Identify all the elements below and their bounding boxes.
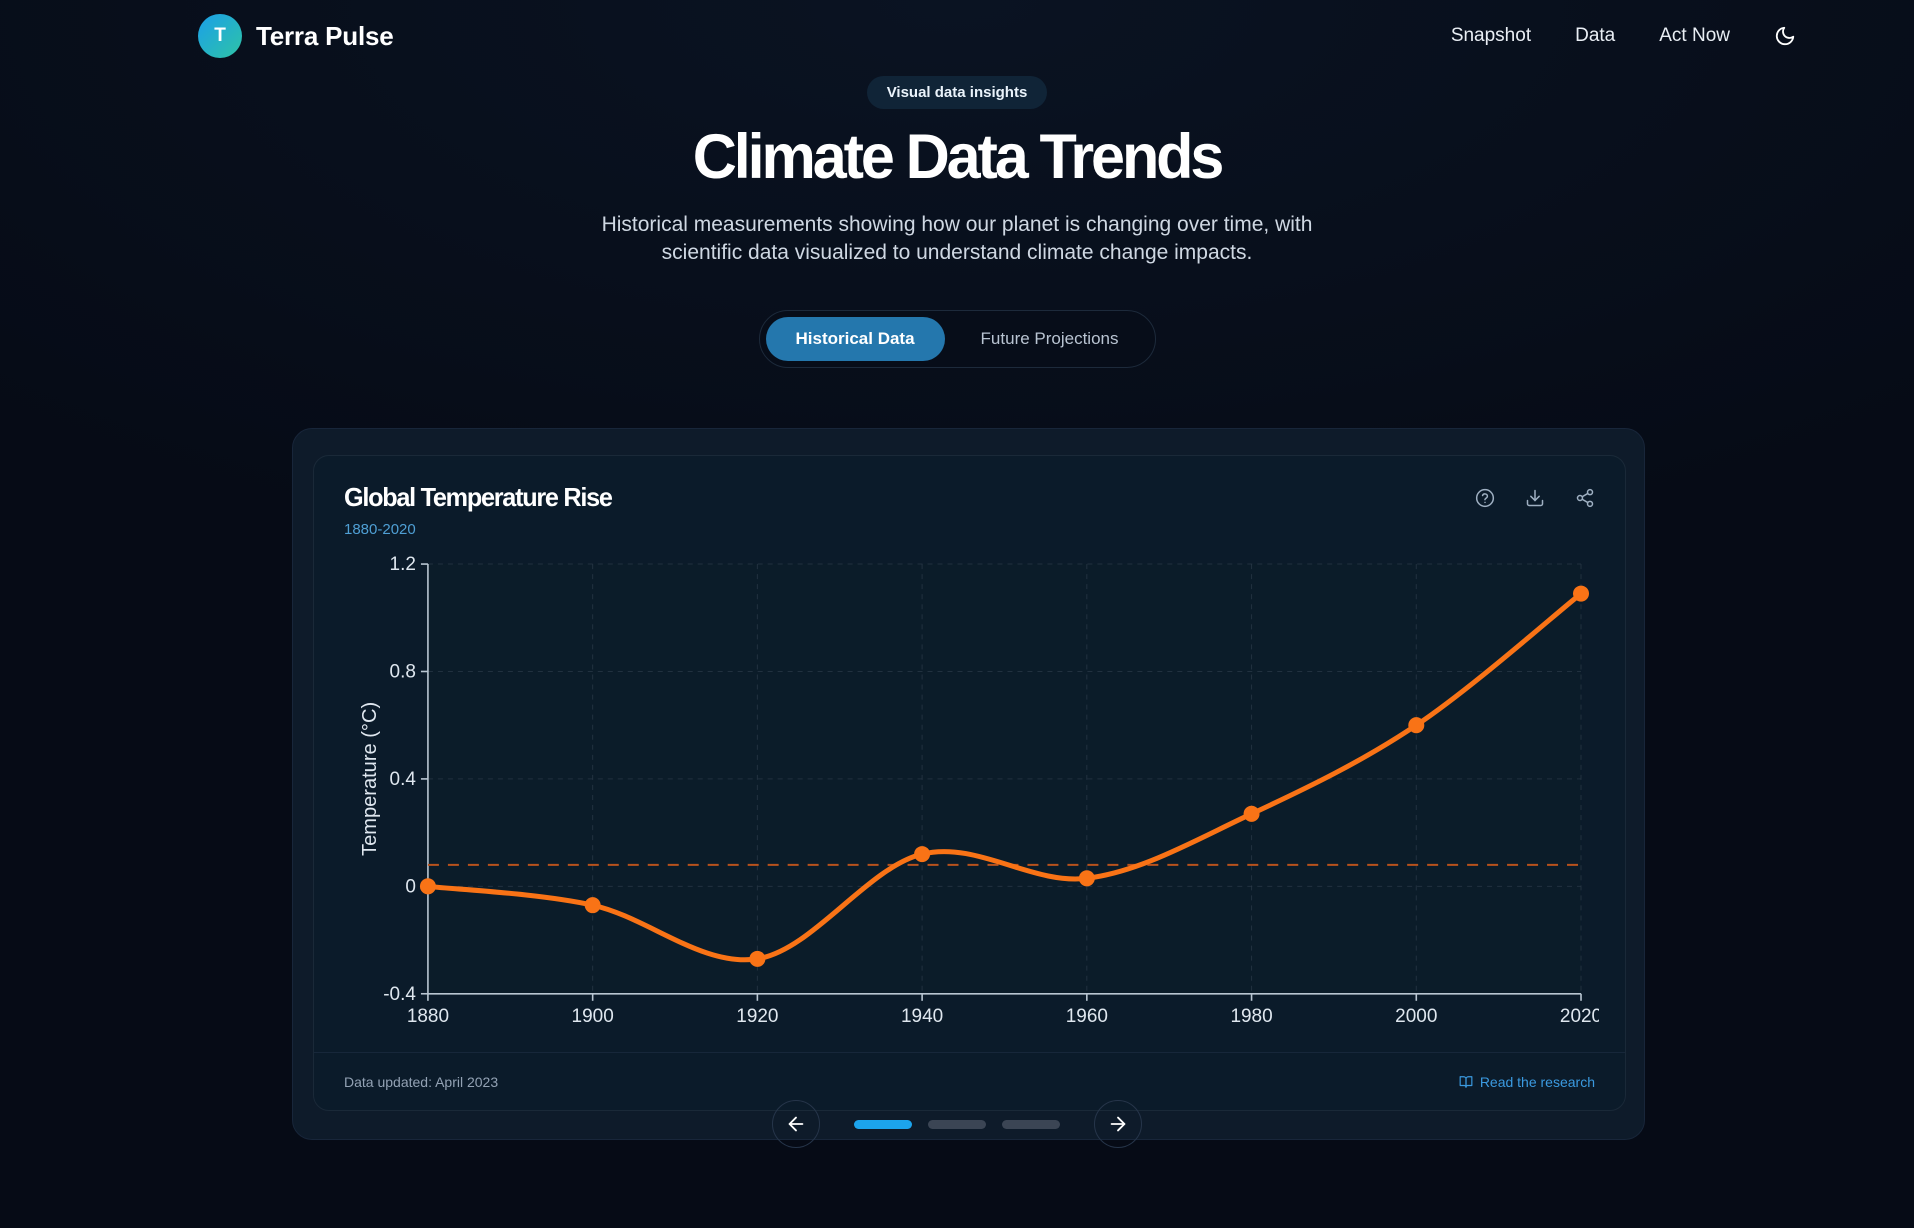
svg-text:2000: 2000 <box>1395 1006 1437 1027</box>
data-updated-label: Data updated: April 2023 <box>344 1074 498 1090</box>
arrow-right-icon <box>1107 1113 1129 1135</box>
chart-title: Global Temperature Rise <box>344 482 612 513</box>
hero-section: Visual data insights Climate Data Trends… <box>0 76 1914 268</box>
svg-text:0.8: 0.8 <box>390 661 416 682</box>
nav-link-act-now[interactable]: Act Now <box>1659 25 1730 47</box>
chart-carousel-controls <box>0 1100 1914 1148</box>
book-icon <box>1459 1075 1473 1089</box>
read-research-link[interactable]: Read the research <box>1459 1074 1595 1090</box>
carousel-dot-2[interactable] <box>928 1120 986 1129</box>
chart-actions <box>1475 482 1595 508</box>
carousel-dot-3[interactable] <box>1002 1120 1060 1129</box>
tab-historical-data[interactable]: Historical Data <box>766 317 945 361</box>
svg-text:1880: 1880 <box>407 1006 449 1027</box>
nav-link-data[interactable]: Data <box>1575 25 1615 47</box>
page-root: T Terra Pulse Snapshot Data Act Now Visu… <box>0 0 1914 1228</box>
brand-logo[interactable]: T Terra Pulse <box>198 14 394 58</box>
hero-subtitle: Historical measurements showing how our … <box>577 211 1337 267</box>
carousel-dot-1[interactable] <box>854 1120 912 1129</box>
chart-plot-area: 1.20.80.40-0.418801900192019401960198020… <box>314 538 1625 1052</box>
carousel-prev-button[interactable] <box>772 1100 820 1148</box>
svg-text:-0.4: -0.4 <box>383 984 416 1005</box>
svg-text:1.2: 1.2 <box>390 554 416 575</box>
svg-text:1940: 1940 <box>901 1006 943 1027</box>
svg-text:1920: 1920 <box>736 1006 778 1027</box>
line-chart: 1.20.80.40-0.418801900192019401960198020… <box>340 550 1599 1052</box>
read-research-label: Read the research <box>1480 1074 1595 1090</box>
chart-subtitle: 1880-2020 <box>344 521 620 538</box>
chart-card-header: Global Temperature Rise 1880-2020 <box>314 456 1625 538</box>
svg-text:0.4: 0.4 <box>390 769 417 790</box>
svg-text:1960: 1960 <box>1066 1006 1108 1027</box>
svg-text:2020: 2020 <box>1560 1006 1599 1027</box>
download-icon[interactable] <box>1525 488 1545 508</box>
chart-card: Global Temperature Rise 1880-2020 <box>313 455 1626 1111</box>
chart-card-outer: Global Temperature Rise 1880-2020 <box>292 428 1645 1140</box>
tab-future-projections[interactable]: Future Projections <box>951 317 1149 361</box>
svg-text:1900: 1900 <box>572 1006 614 1027</box>
svg-text:1980: 1980 <box>1230 1006 1272 1027</box>
share-icon[interactable] <box>1575 488 1595 508</box>
nav-link-snapshot[interactable]: Snapshot <box>1451 25 1531 47</box>
carousel-dots <box>854 1120 1060 1129</box>
nav-links: Snapshot Data Act Now <box>1451 25 1874 47</box>
carousel-next-button[interactable] <box>1094 1100 1142 1148</box>
moon-icon[interactable] <box>1774 25 1796 47</box>
svg-text:Temperature (°C): Temperature (°C) <box>359 702 381 856</box>
brand-name: Terra Pulse <box>256 21 394 52</box>
brand-badge-icon: T <box>198 14 242 58</box>
svg-text:0: 0 <box>405 876 416 897</box>
top-navigation: T Terra Pulse Snapshot Data Act Now <box>0 0 1914 72</box>
tab-group: Historical Data Future Projections <box>0 310 1914 368</box>
page-title: Climate Data Trends <box>29 125 1886 189</box>
help-icon[interactable] <box>1475 488 1495 508</box>
hero-badge: Visual data insights <box>867 76 1048 109</box>
arrow-left-icon <box>785 1113 807 1135</box>
